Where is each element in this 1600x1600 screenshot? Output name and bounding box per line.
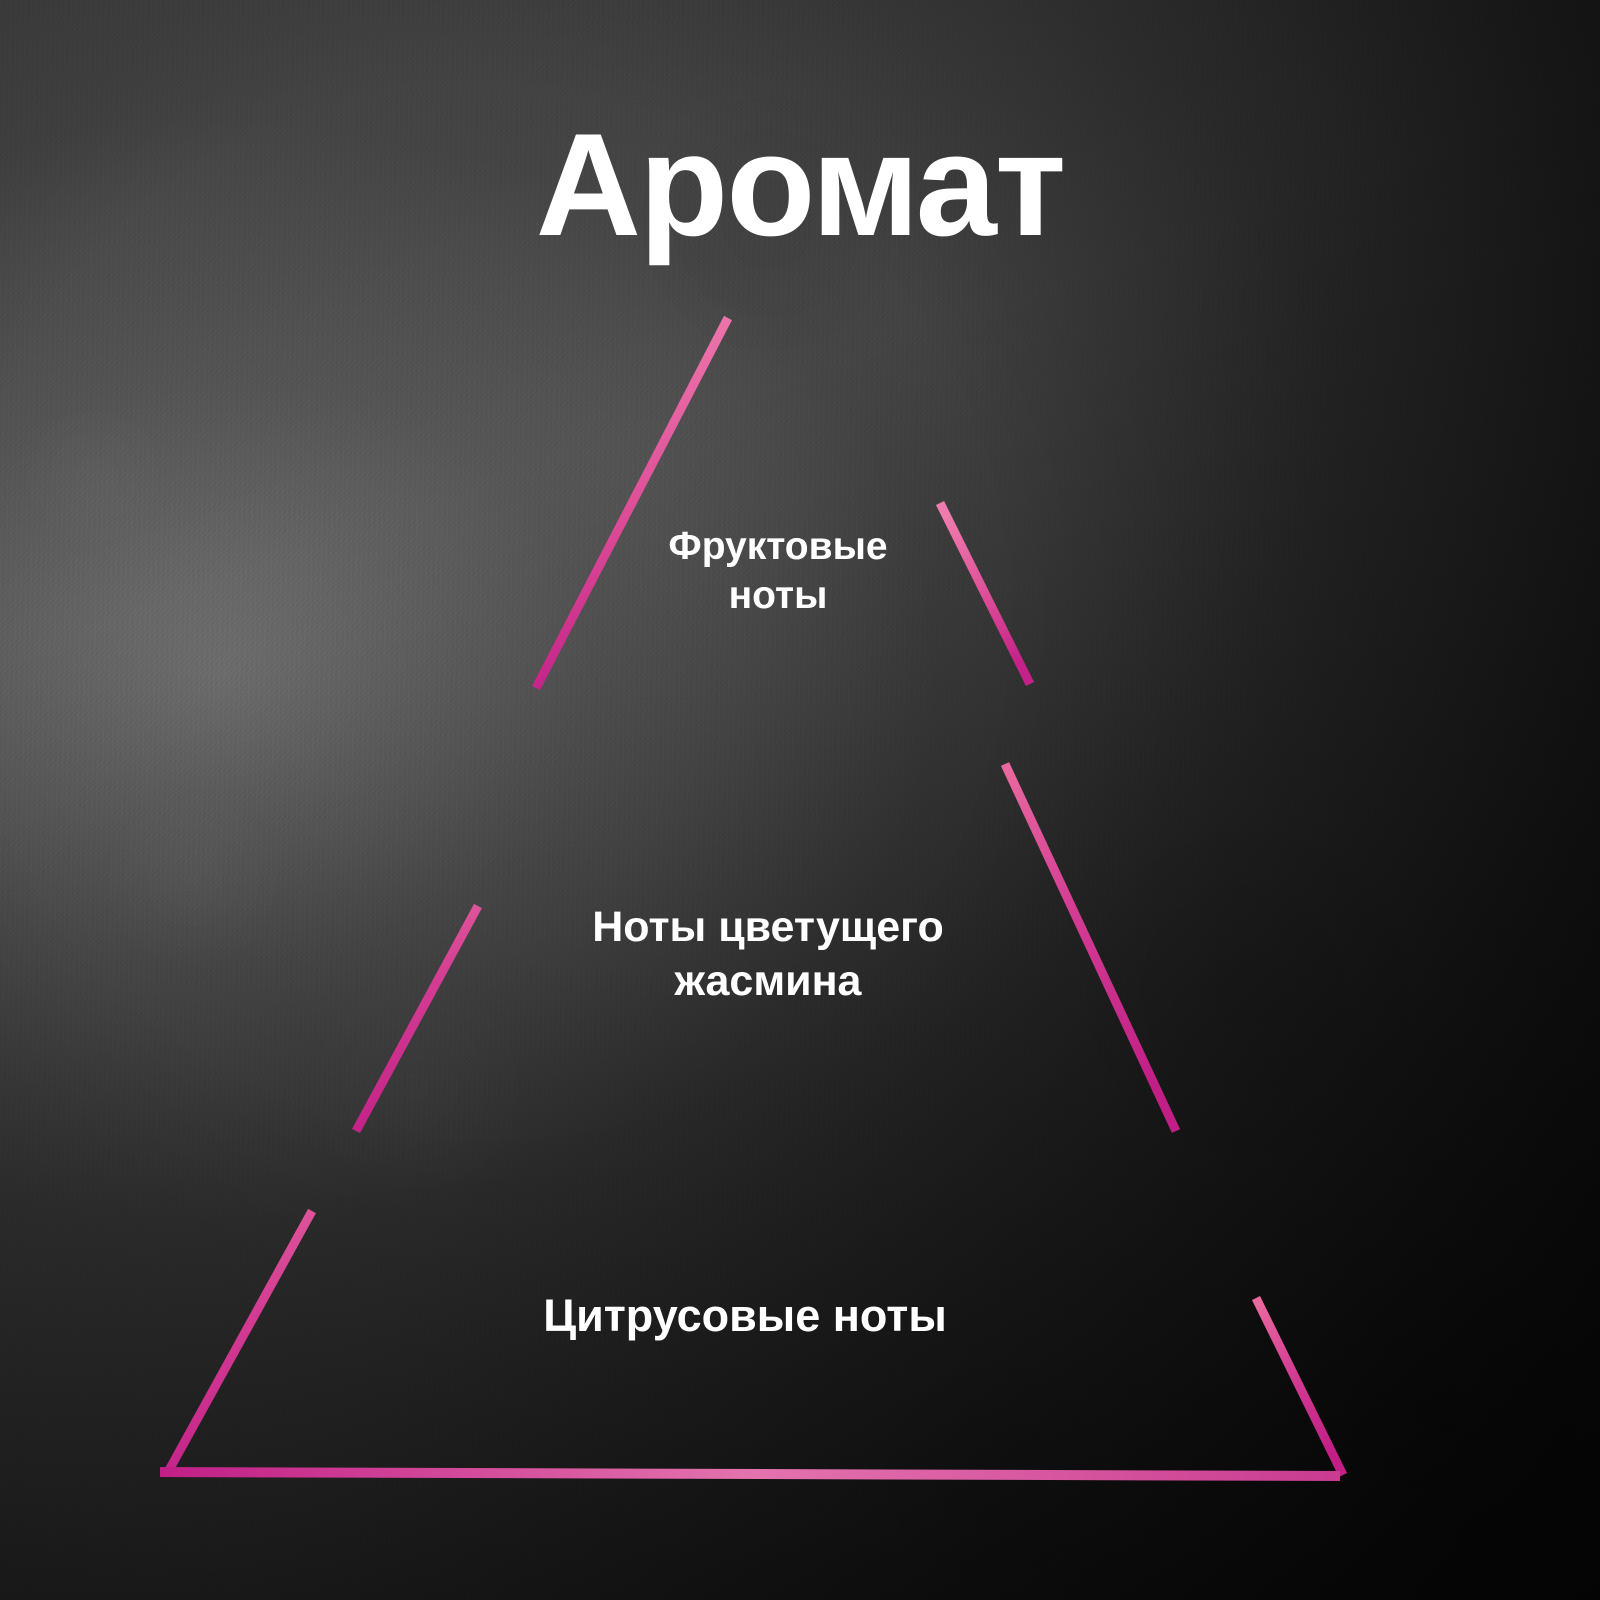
pyramid-tier-bottom-label: Цитрусовые ноты (300, 1288, 1190, 1345)
pyramid-tier-middle-label: Ноты цветущего жасмина (358, 900, 1178, 1008)
pyramid-outline-graphic (0, 0, 1600, 1600)
fragrance-pyramid-graphic: Аромат (0, 0, 1600, 1600)
pyramid-tier-top-shape (528, 318, 1030, 690)
pyramid-tier-top-label: Фруктовые ноты (528, 522, 1028, 620)
